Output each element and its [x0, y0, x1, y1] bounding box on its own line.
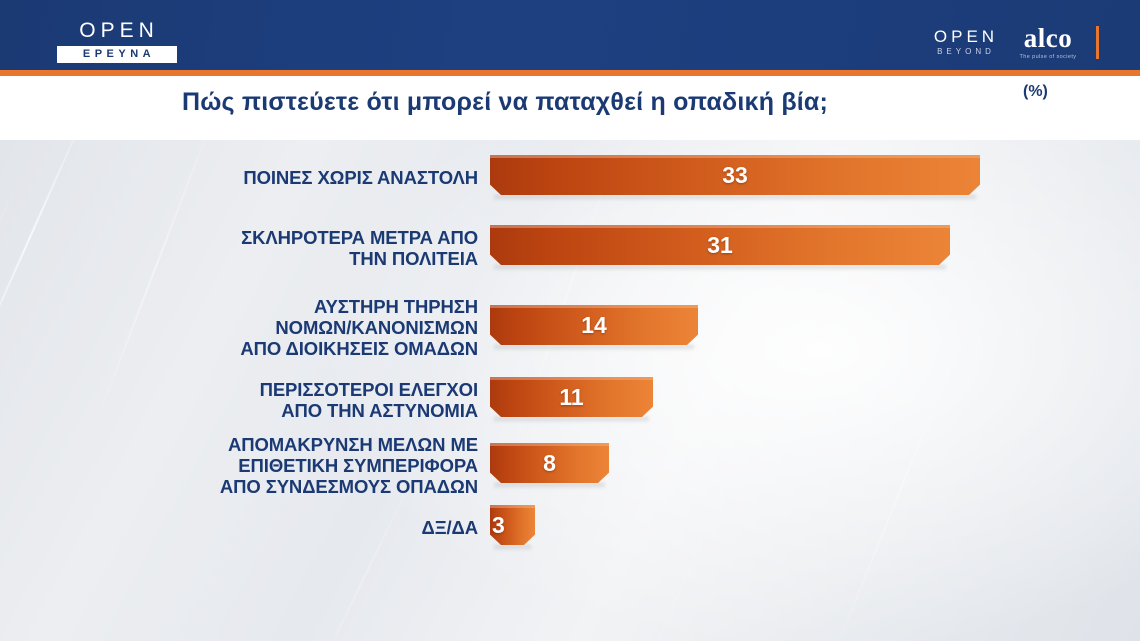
bar: 11 — [490, 377, 653, 423]
bar-shadow — [494, 545, 531, 551]
bar-category-label-line: ΑΠΟ ΔΙΟΙΚΗΣΕΙΣ ΟΜΑΔΩΝ — [58, 338, 478, 359]
bar-category-label-line: ΑΥΣΤΗΡΗ ΤΗΡΗΣΗ — [58, 296, 478, 317]
bar-category-label-line: ΝΟΜΩΝ/ΚΑΝΟΝΙΣΜΩΝ — [58, 317, 478, 338]
bar-category-label-line: ΠΟΙΝΕΣ ΧΩΡΙΣ ΑΝΑΣΤΟΛΗ — [58, 167, 478, 188]
bar-category-label: ΣΚΛΗΡΟΤΕΡΑ ΜΕΤΡΑ ΑΠΟΤΗΝ ΠΟΛΙΤΕΙΑ — [58, 227, 478, 269]
bar: 31 — [490, 225, 950, 271]
bar-value-label: 33 — [490, 162, 980, 189]
bar-category-label: ΑΠΟΜΑΚΡΥΝΣΗ ΜΕΛΩΝ ΜΕΕΠΙΘΕΤΙΚΗ ΣΥΜΠΕΡΙΦΟΡ… — [58, 434, 478, 497]
bar-row: ΣΚΛΗΡΟΤΕΡΑ ΜΕΤΡΑ ΑΠΟΤΗΝ ΠΟΛΙΤΕΙΑ31 — [0, 225, 1140, 271]
percent-unit-label: (%) — [1023, 83, 1048, 101]
bar-row: ΠΟΙΝΕΣ ΧΩΡΙΣ ΑΝΑΣΤΟΛΗ33 — [0, 155, 1140, 201]
bar-value-label: 14 — [490, 312, 698, 339]
bar: 14 — [490, 305, 698, 351]
bar-rows: ΠΟΙΝΕΣ ΧΩΡΙΣ ΑΝΑΣΤΟΛΗ33ΣΚΛΗΡΟΤΕΡΑ ΜΕΤΡΑ … — [0, 140, 1140, 641]
bar-shadow — [494, 345, 694, 351]
bar-category-label: ΑΥΣΤΗΡΗ ΤΗΡΗΣΗΝΟΜΩΝ/ΚΑΝΟΝΙΣΜΩΝΑΠΟ ΔΙΟΙΚΗ… — [58, 296, 478, 359]
bar-category-label-line: ΑΠΟΜΑΚΡΥΝΣΗ ΜΕΛΩΝ ΜΕ — [58, 434, 478, 455]
alco-logo: alco The pulse of society — [1009, 24, 1087, 62]
page-title: Πώς πιστεύετε ότι μπορεί να παταχθεί η ο… — [0, 88, 1010, 117]
open-erevna-brand-text: OPEN — [57, 19, 177, 43]
bar-row: ΔΞ/ΔΑ3 — [0, 505, 1140, 551]
bar-fill: 33 — [490, 155, 980, 195]
bar-category-label-line: ΠΕΡΙΣΣΟΤΕΡΟΙ ΕΛΕΓΧΟΙ — [58, 379, 478, 400]
bar-row: ΑΥΣΤΗΡΗ ΤΗΡΗΣΗΝΟΜΩΝ/ΚΑΝΟΝΙΣΜΩΝΑΠΟ ΔΙΟΙΚΗ… — [0, 305, 1140, 351]
bar: 33 — [490, 155, 980, 201]
bar-category-label: ΠΟΙΝΕΣ ΧΩΡΙΣ ΑΝΑΣΤΟΛΗ — [58, 167, 478, 188]
bar-category-label-line: ΤΗΝ ΠΟΛΙΤΕΙΑ — [58, 248, 478, 269]
bar-fill: 31 — [490, 225, 950, 265]
bar-shadow — [494, 417, 649, 423]
bar-value-label: 8 — [490, 450, 609, 477]
bar-fill: 11 — [490, 377, 653, 417]
bar-category-label-line: ΔΞ/ΔΑ — [58, 517, 478, 538]
bar-category-label-line: ΑΠΟ ΣΥΝΔΕΣΜΟΥΣ ΟΠΑΔΩΝ — [58, 476, 478, 497]
bar-value-label: 11 — [490, 384, 653, 411]
open-beyond-brand-text: OPEN — [914, 27, 1014, 46]
header-bar: OPEN ΕΡΕΥΝΑ OPEN BEYOND alco The pulse o… — [0, 0, 1140, 70]
bar-value-label: 31 — [490, 232, 950, 259]
bar-row: ΠΕΡΙΣΣΟΤΕΡΟΙ ΕΛΕΓΧΟΙΑΠΟ ΤΗΝ ΑΣΤΥΝΟΜΙΑ11 — [0, 377, 1140, 423]
bar: 3 — [490, 505, 535, 551]
bar-shadow — [494, 195, 976, 201]
open-beyond-logo: OPEN BEYOND — [914, 27, 1014, 58]
open-erevna-sub-text: ΕΡΕΥΝΑ — [57, 46, 177, 63]
bar-category-label-line: ΣΚΛΗΡΟΤΕΡΑ ΜΕΤΡΑ ΑΠΟ — [58, 227, 478, 248]
bar: 8 — [490, 443, 609, 489]
open-beyond-sub-text: BEYOND — [914, 46, 1014, 58]
bar-fill: 3 — [490, 505, 535, 545]
bar-category-label: ΠΕΡΙΣΣΟΤΕΡΟΙ ΕΛΕΓΧΟΙΑΠΟ ΤΗΝ ΑΣΤΥΝΟΜΙΑ — [58, 379, 478, 421]
bar-row: ΑΠΟΜΑΚΡΥΝΣΗ ΜΕΛΩΝ ΜΕΕΠΙΘΕΤΙΚΗ ΣΥΜΠΕΡΙΦΟΡ… — [0, 443, 1140, 489]
poll-result-slide: OPEN ΕΡΕΥΝΑ OPEN BEYOND alco The pulse o… — [0, 0, 1140, 641]
bar-shadow — [494, 265, 946, 271]
bar-category-label-line: ΕΠΙΘΕΤΙΚΗ ΣΥΜΠΕΡΙΦΟΡΑ — [58, 455, 478, 476]
bar-category-label: ΔΞ/ΔΑ — [58, 517, 478, 538]
bar-shadow — [494, 483, 605, 489]
open-erevna-logo: OPEN ΕΡΕΥΝΑ — [57, 19, 177, 63]
bar-category-label-line: ΑΠΟ ΤΗΝ ΑΣΤΥΝΟΜΙΑ — [58, 400, 478, 421]
chart-area: ΠΟΙΝΕΣ ΧΩΡΙΣ ΑΝΑΣΤΟΛΗ33ΣΚΛΗΡΟΤΕΡΑ ΜΕΤΡΑ … — [0, 140, 1140, 641]
bar-value-label: 3 — [492, 512, 505, 539]
bar-fill: 14 — [490, 305, 698, 345]
logo-divider — [1096, 26, 1099, 59]
bar-fill: 8 — [490, 443, 609, 483]
alco-brand-text: alco — [1009, 24, 1087, 53]
alco-tagline-text: The pulse of society — [1009, 53, 1087, 62]
